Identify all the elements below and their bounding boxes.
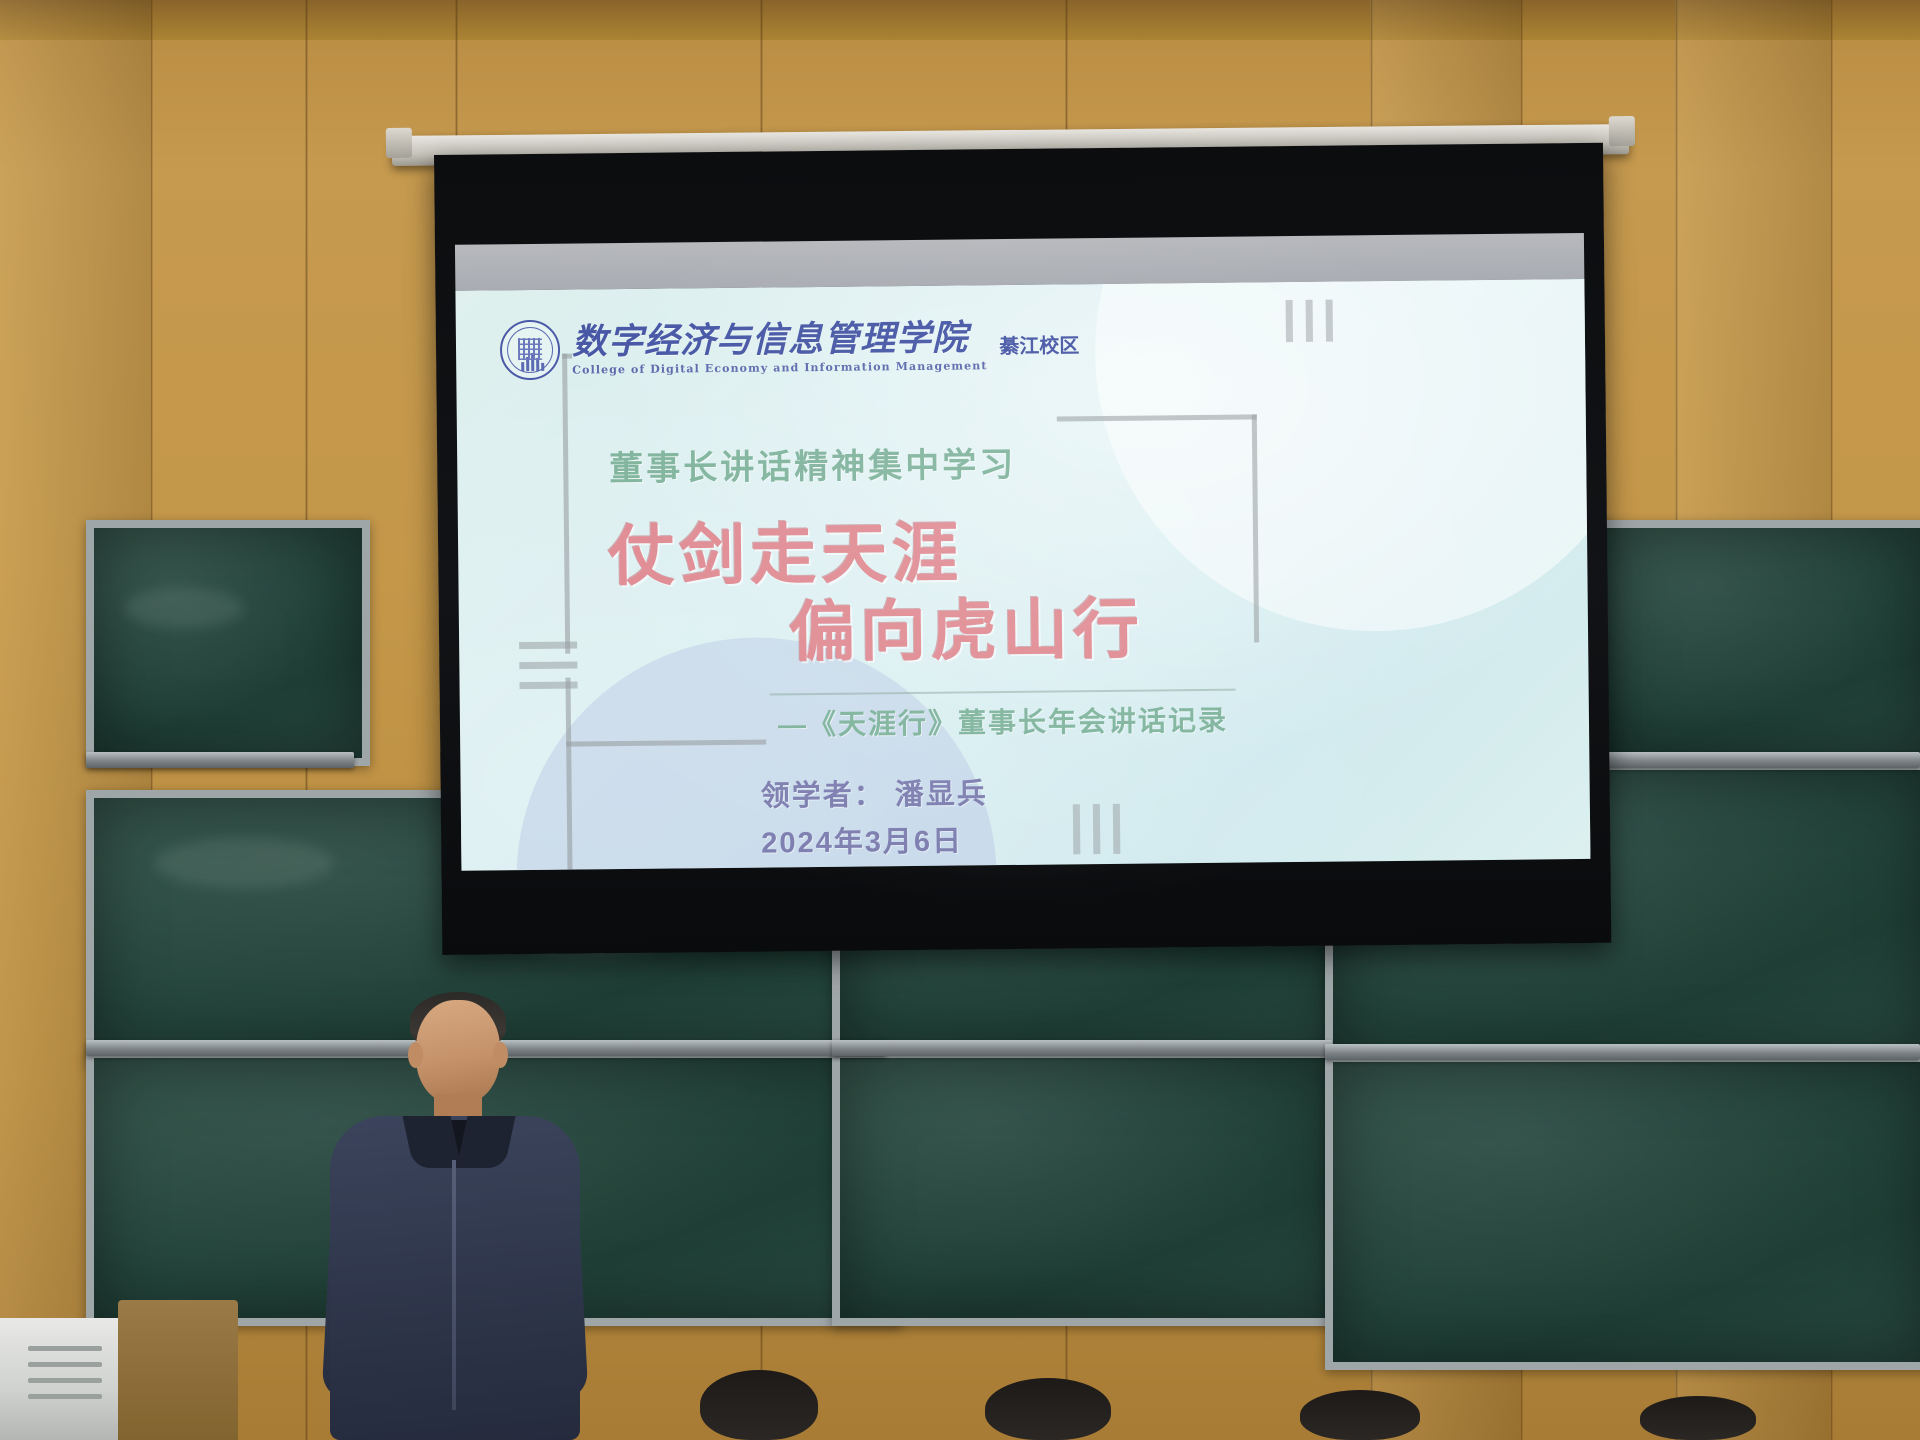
person-head — [416, 1000, 500, 1104]
chalkboard-left-upper — [86, 520, 370, 766]
classroom-scene: 数字经济与信息管理学院 College of Digital Economy a… — [0, 0, 1920, 1440]
person-ear-left — [408, 1042, 423, 1068]
slide-date: 2024年3月6日 — [761, 817, 963, 861]
presentation-slide[interactable]: 数字经济与信息管理学院 College of Digital Economy a… — [455, 279, 1590, 871]
presenter-person — [330, 1000, 580, 1440]
chalk-rail-center — [832, 1040, 1332, 1056]
institution-name-cn: 数字经济与信息管理学院 — [572, 320, 988, 359]
chalkboard-bottom-center — [832, 1050, 1348, 1326]
frame-bracket-left-top — [562, 354, 570, 654]
audience-head — [1300, 1390, 1420, 1440]
crest-bars — [521, 353, 544, 371]
institution-name-en: College of Digital Economy and Informati… — [572, 360, 987, 375]
slide-kicker: 董事长讲话精神集中学习 — [609, 437, 1016, 490]
chalkboard-far-right-upper — [1597, 520, 1920, 766]
person-coat-zipper — [452, 1160, 456, 1410]
university-crest-icon — [500, 320, 561, 381]
chalk-rail-left-upper — [86, 752, 354, 768]
campus-label: 綦江校区 — [999, 329, 1079, 359]
decorative-bars-vertical-top — [1286, 300, 1333, 342]
decorative-circle-top-right — [1092, 279, 1590, 634]
housing-bracket-left — [386, 128, 412, 158]
lectern-desk — [118, 1300, 238, 1440]
audience-head — [985, 1378, 1111, 1440]
decorative-bars-vertical-bottom — [1073, 804, 1121, 854]
decorative-bars-horizontal — [519, 642, 577, 690]
slide-source-line: —《天涯行》董事长年会讲话记录 — [778, 699, 1228, 744]
institution-name-block: 数字经济与信息管理学院 College of Digital Economy a… — [572, 320, 988, 375]
slide-header: 数字经济与信息管理学院 College of Digital Economy a… — [500, 314, 1080, 380]
ceiling-band — [0, 0, 1920, 40]
audience-head — [700, 1370, 818, 1440]
projection-screen[interactable]: 数字经济与信息管理学院 College of Digital Economy a… — [434, 143, 1611, 955]
person-ear-right — [493, 1042, 508, 1068]
audience-head — [1640, 1396, 1756, 1440]
slide-title-line-2: 偏向虎山行 — [788, 576, 1144, 676]
chalk-rail-right — [1325, 1044, 1920, 1060]
chalkboard-bottom-right — [1325, 1054, 1920, 1370]
housing-bracket-right — [1609, 116, 1635, 146]
slide-presenter: 领学者： 潘显兵 — [760, 770, 987, 814]
